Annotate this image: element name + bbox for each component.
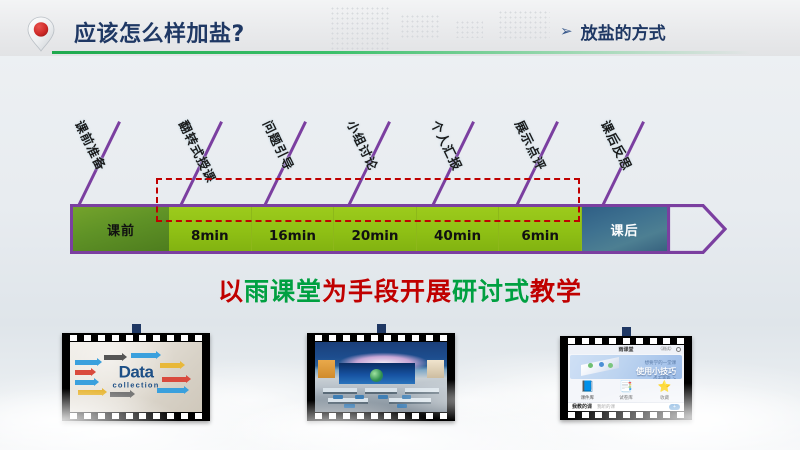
timeline-segment-post-class[interactable]: 课后 xyxy=(582,207,667,251)
headline-segment: 开展 xyxy=(400,277,452,306)
slide-header: 应该怎么样加盐? ➢ 放盐的方式 xyxy=(0,0,800,56)
filmstrip-frame[interactable]: Data collection xyxy=(62,333,210,421)
header-subtitle: 放盐的方式 xyxy=(581,19,666,44)
app-shortcut-label: 课件库 xyxy=(580,395,594,401)
headline-segment: 雨课堂 xyxy=(244,277,322,306)
timeline-arrow-head-icon xyxy=(667,204,727,254)
photo-globe xyxy=(370,369,383,382)
filmstrip-frame[interactable] xyxy=(307,333,455,421)
classroom-exhibition-photo xyxy=(315,342,447,412)
headline-segment: 以 xyxy=(218,277,244,306)
header-divider xyxy=(52,51,752,54)
header-subtitle-group: ➢ 放盐的方式 xyxy=(560,19,666,44)
header-dot-pattern xyxy=(455,20,483,38)
header-dot-pattern xyxy=(330,6,390,50)
banner-title: 使用小技巧 xyxy=(636,367,676,377)
film-perforations xyxy=(70,335,202,341)
film-hanger xyxy=(377,324,386,333)
film-perforations xyxy=(568,338,684,344)
banner-more-link[interactable]: 点击查看 > xyxy=(636,377,676,379)
book-icon: 📘 xyxy=(580,382,594,393)
data-collection-photo: Data collection xyxy=(70,342,202,412)
film-perforations xyxy=(315,335,447,341)
app-banner[interactable]: 想要学的一堂课 使用小技巧 点击查看 > xyxy=(570,355,681,379)
presentation-slide: 应该怎么样加盐? ➢ 放盐的方式 课前准备 翻转式授课 问题引导 小组讨论 个人… xyxy=(0,0,800,450)
phase-label: 翻转式授课 xyxy=(175,117,222,186)
app-title: 雨课堂 xyxy=(618,346,633,353)
headline-text: 以雨课堂为手段开展研讨式教学 xyxy=(0,272,800,308)
page-title: 应该怎么样加盐? xyxy=(74,16,245,48)
app-shortcut-exam[interactable]: 📑 试卷库 xyxy=(619,382,633,401)
app-badge: （测试） xyxy=(658,346,674,352)
filmstrip-frame[interactable]: 雨课堂 （测试） 想要学的一堂课 使用小技巧 点击查看 > xyxy=(560,336,692,420)
app-shortcut-courseware[interactable]: 📘 课件库 xyxy=(580,382,594,401)
film-perforations xyxy=(568,412,684,418)
film-hanger xyxy=(132,324,141,333)
app-tab-teaching[interactable]: 我教的课 xyxy=(572,403,592,410)
photo-left-wall xyxy=(318,360,335,378)
more-icon[interactable] xyxy=(676,347,681,352)
film-perforations xyxy=(315,413,447,419)
app-title-bar: 雨课堂 （测试） xyxy=(568,345,684,354)
app-tab-listening[interactable]: 我听的课 xyxy=(597,404,615,410)
app-shortcut-label: 试卷库 xyxy=(619,395,633,401)
photo-right-wall xyxy=(427,360,444,378)
star-icon: ⭐ xyxy=(658,382,672,393)
app-shortcut-label: 收藏 xyxy=(658,395,672,401)
headline-segment: 研讨式 xyxy=(452,277,530,306)
header-dot-pattern xyxy=(498,10,550,40)
location-pin-icon xyxy=(27,16,55,52)
app-shortcut-favorites[interactable]: ⭐ 收藏 xyxy=(658,382,672,401)
photo-caption: Data collection xyxy=(112,363,159,389)
app-footer-tabs: 我教的课 我听的课 + xyxy=(568,402,684,411)
film-perforations xyxy=(70,413,202,419)
document-icon: 📑 xyxy=(619,382,633,393)
arrow-bullet-icon: ➢ xyxy=(560,24,573,39)
timeline-highlight-box xyxy=(156,178,580,222)
app-shortcut-row: 📘 课件库 📑 试卷库 ⭐ 收藏 xyxy=(568,381,684,401)
banner-text: 想要学的一堂课 使用小技巧 点击查看 > xyxy=(636,361,676,379)
add-button[interactable]: + xyxy=(669,404,680,410)
film-hanger xyxy=(622,327,631,336)
headline-segment: 教学 xyxy=(530,277,582,306)
app-title-bar-actions: （测试） xyxy=(658,346,681,352)
timeline-segment-pre-class[interactable]: 课前 xyxy=(73,207,169,251)
rain-classroom-app-screenshot: 雨课堂 （测试） 想要学的一堂课 使用小技巧 点击查看 > xyxy=(568,345,684,411)
headline-segment: 为手段 xyxy=(322,277,400,306)
header-dot-pattern xyxy=(400,14,440,40)
